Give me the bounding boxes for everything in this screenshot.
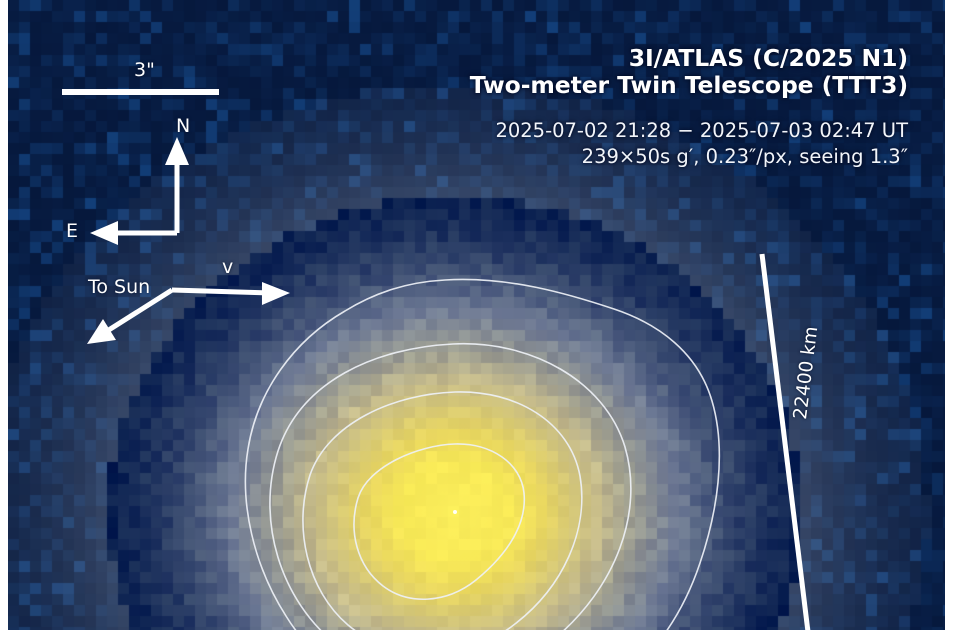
exposure-details: 239×50s g′, 0.23″/px, seeing 1.3″ xyxy=(268,144,908,170)
astronomical-image-frame: 3I/ATLAS (C/2025 N1) Two-meter Twin Tele… xyxy=(8,0,945,630)
to-sun-vector-label: To Sun xyxy=(88,278,150,297)
observation-details: 2025-07-02 21:28 − 2025-07-03 02:47 UT 2… xyxy=(268,118,908,170)
scale-bar-label: 3" xyxy=(134,61,155,80)
observation-window: 2025-07-02 21:28 − 2025-07-03 02:47 UT xyxy=(268,118,908,144)
velocity-vector-label: v xyxy=(222,258,233,277)
telescope-name: Two-meter Twin Telescope (TTT3) xyxy=(288,72,908,99)
compass-north-label: N xyxy=(176,117,190,136)
figure-root: 3I/ATLAS (C/2025 N1) Two-meter Twin Tele… xyxy=(0,0,955,630)
compass-east-label: E xyxy=(66,222,78,241)
object-name: 3I/ATLAS (C/2025 N1) xyxy=(288,45,908,72)
observation-title: 3I/ATLAS (C/2025 N1) Two-meter Twin Tele… xyxy=(288,45,908,99)
